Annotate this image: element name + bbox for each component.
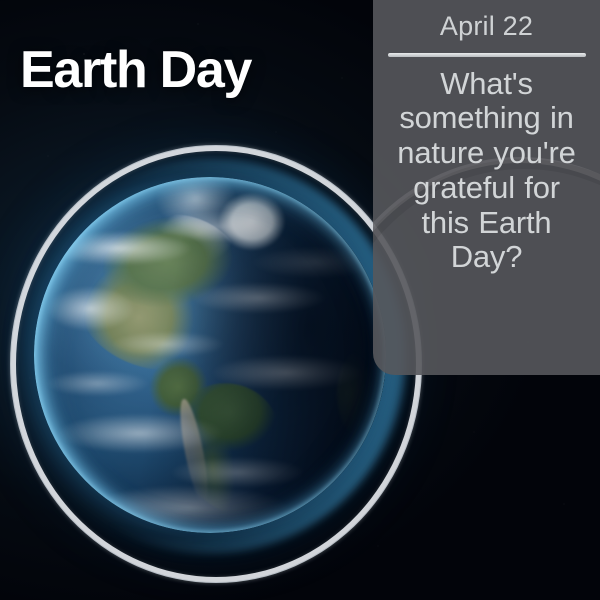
earth-day-graphic: Earth Day April 22 What's something in n… <box>0 0 600 600</box>
prompt-question: What's something in nature you're gratef… <box>387 67 586 275</box>
earth-globe-illustration <box>10 145 414 575</box>
prompt-divider <box>388 53 586 57</box>
prompt-date: April 22 <box>387 12 586 42</box>
page-title: Earth Day <box>20 44 251 96</box>
prompt-card: April 22 What's something in nature you'… <box>373 0 600 375</box>
orbit-ring <box>10 145 422 583</box>
